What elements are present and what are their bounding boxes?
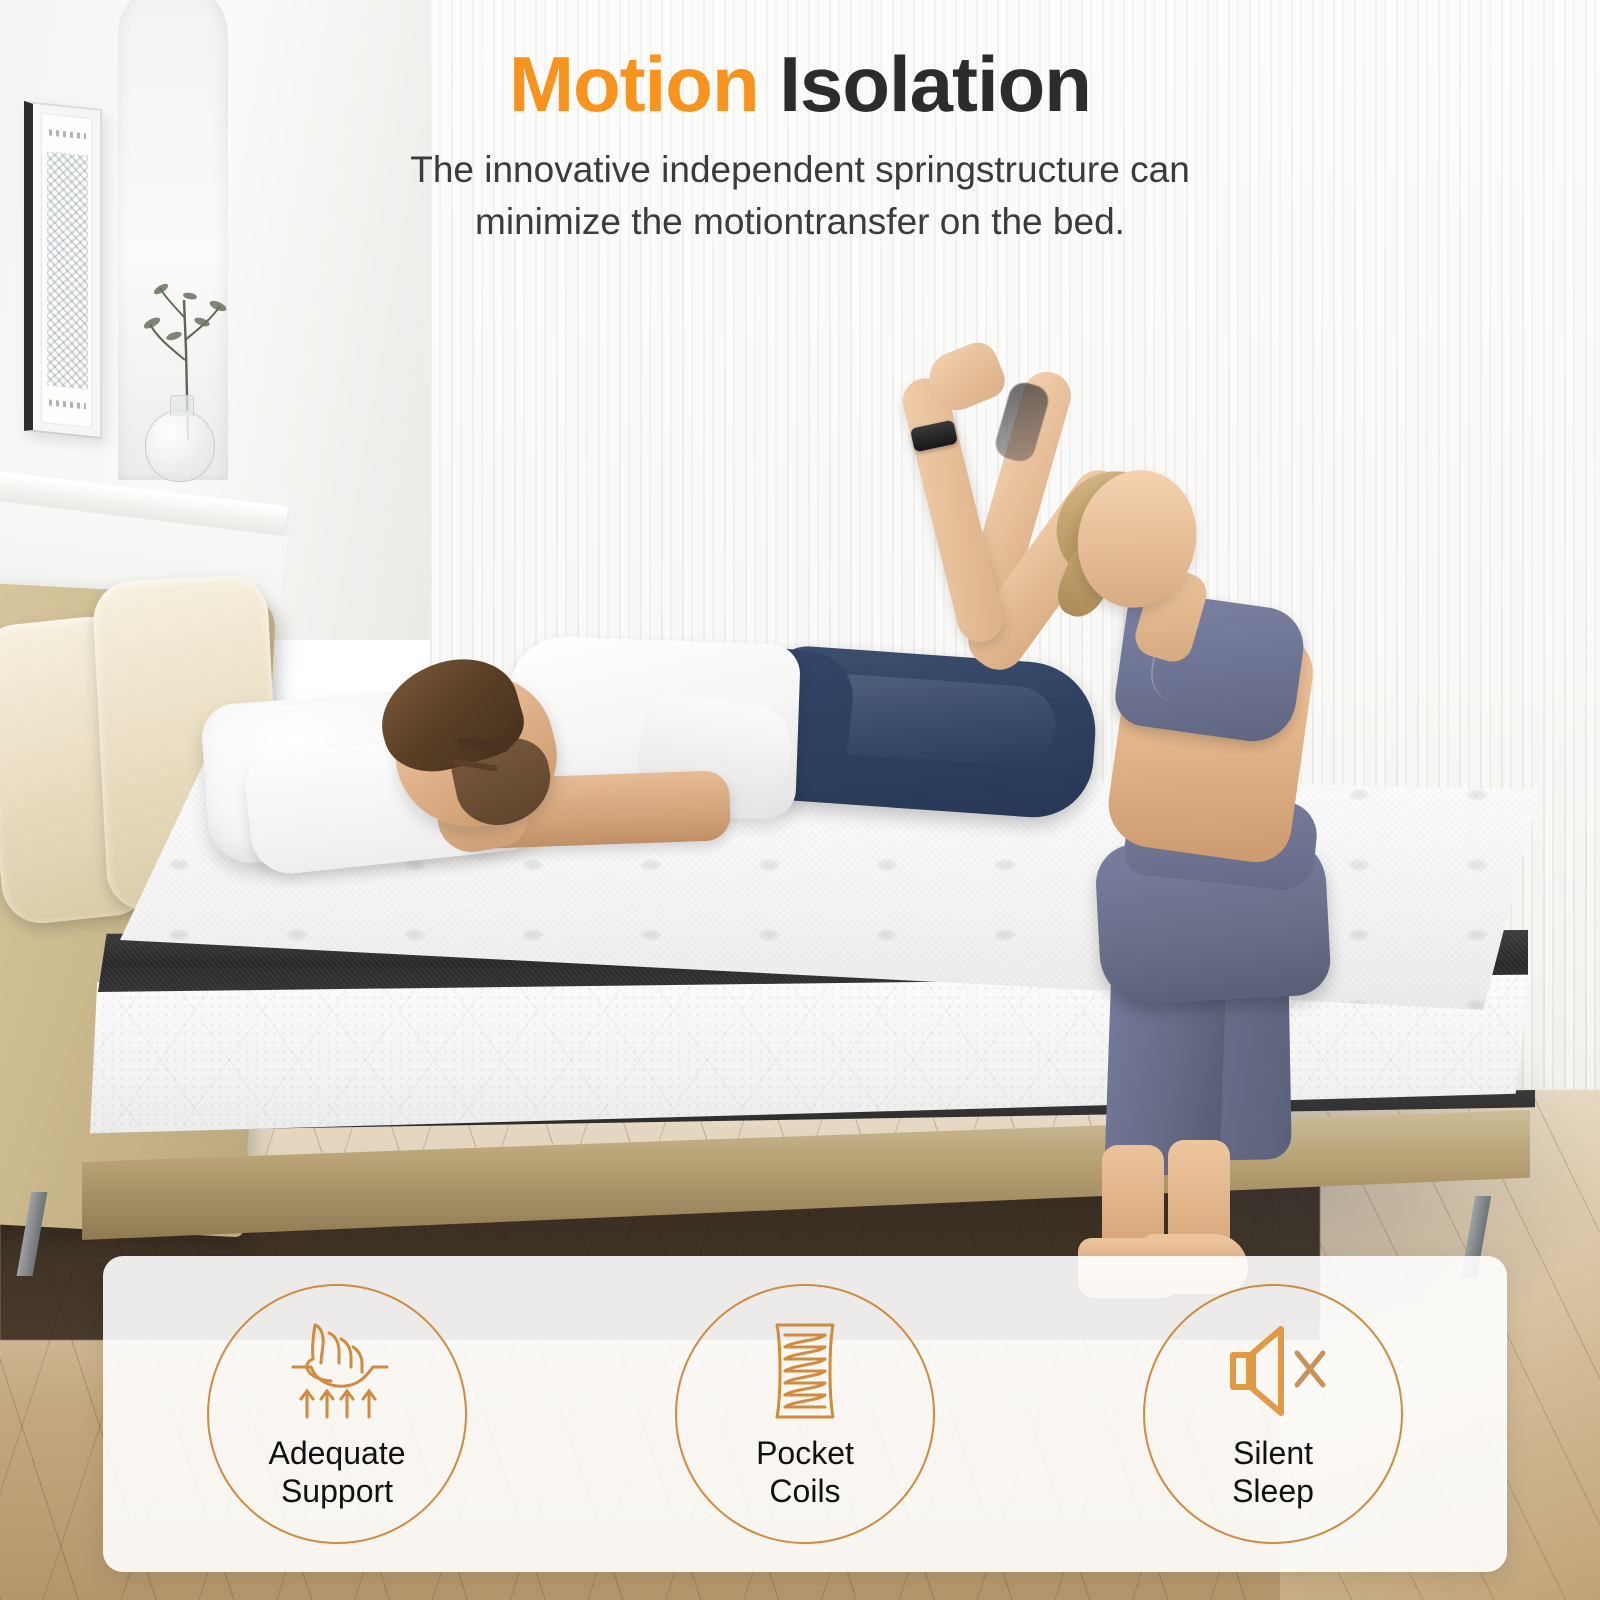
hand-pressing-support-icon xyxy=(277,1317,397,1425)
feature-label: Adequate Support xyxy=(268,1435,405,1511)
feature-panel: Adequate Support Pocket Coils xyxy=(103,1256,1507,1572)
pocket-coil-spring-icon xyxy=(745,1317,865,1425)
feature-label: Silent Sleep xyxy=(1232,1435,1314,1511)
header: Motion Isolation The innovative independ… xyxy=(0,0,1600,249)
subtitle-line-2: minimize the motiontransfer on the bed. xyxy=(0,196,1600,249)
title-accent-word: Motion xyxy=(509,40,759,128)
page-title: Motion Isolation xyxy=(0,44,1600,126)
feature-adequate-support[interactable]: Adequate Support xyxy=(207,1284,467,1544)
title-rest-word: Isolation xyxy=(759,40,1091,128)
glass-vase xyxy=(145,410,215,482)
page-subtitle: The innovative independent springstructu… xyxy=(0,144,1600,249)
muted-speaker-icon xyxy=(1213,1317,1333,1425)
feature-label: Pocket Coils xyxy=(756,1435,854,1511)
feature-silent-sleep[interactable]: Silent Sleep xyxy=(1143,1284,1403,1544)
subtitle-line-1: The innovative independent springstructu… xyxy=(0,144,1600,197)
feature-pocket-coils[interactable]: Pocket Coils xyxy=(675,1284,935,1544)
